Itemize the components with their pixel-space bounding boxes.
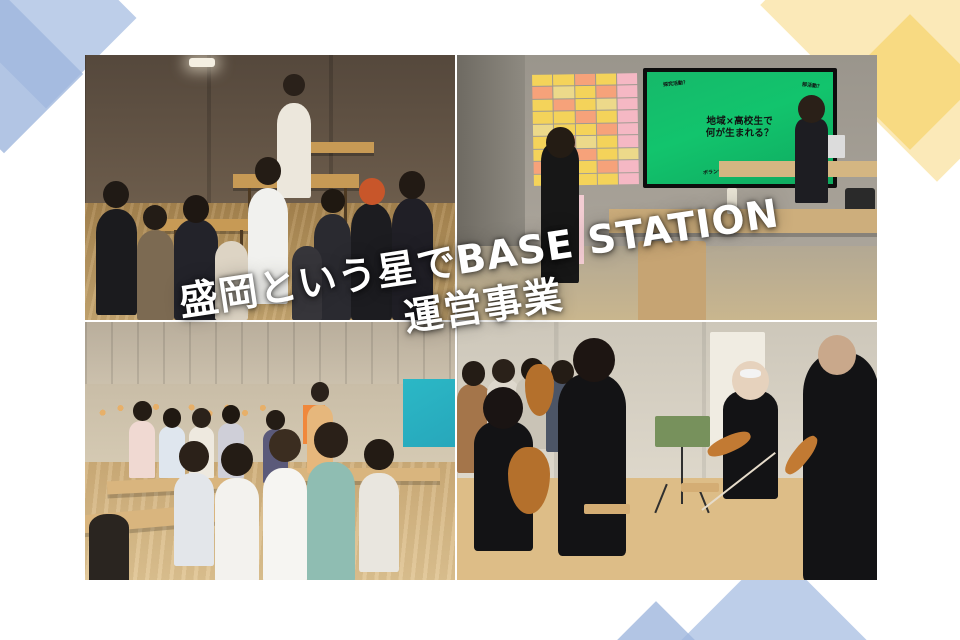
person-musician-right xyxy=(803,353,877,580)
stool xyxy=(584,504,630,514)
concrete-pillar xyxy=(457,55,525,246)
person-presenter-left xyxy=(541,145,579,283)
chair xyxy=(638,241,706,321)
person xyxy=(174,219,218,320)
diamond-bottom-right-2 xyxy=(571,601,741,640)
photo-chamber-concert xyxy=(457,322,877,580)
screen-tag-1: 探究活動？ xyxy=(663,79,689,89)
music-stand xyxy=(655,416,710,447)
screen-tag-2: 部活動？ xyxy=(801,81,822,90)
photo-seminar-room xyxy=(85,322,455,580)
photo-presentation-green-screen: 探究活動？ 部活動？ 地域×高校生で 何が生まれる？ ボランティア？ xyxy=(457,55,877,320)
person-presenter-right xyxy=(795,119,829,204)
ceiling-light xyxy=(189,58,215,67)
person-musician-center xyxy=(558,374,626,556)
wall-garland xyxy=(92,400,270,423)
person xyxy=(129,421,155,478)
stool xyxy=(681,483,719,492)
person xyxy=(277,103,310,198)
screen-headline-line2: 何が生まれる？ xyxy=(706,128,774,139)
slide-canvas: 探究活動？ 部活動？ 地域×高校生で 何が生まれる？ ボランティア？ xyxy=(0,0,960,640)
person xyxy=(351,203,392,320)
long-table xyxy=(609,209,877,233)
person xyxy=(263,468,307,580)
projection-screen xyxy=(403,379,455,447)
bottle xyxy=(727,188,737,215)
diamond-top-left-2 xyxy=(0,0,83,153)
person xyxy=(248,188,289,305)
person xyxy=(359,473,400,572)
person xyxy=(137,230,174,320)
person xyxy=(392,198,433,320)
photo-workshop-concrete-room xyxy=(85,55,455,320)
person xyxy=(215,478,259,580)
photo-collage: 探究活動？ 部活動？ 地域×高校生で 何が生まれる？ ボランティア？ xyxy=(85,55,877,580)
ceiling xyxy=(85,322,455,390)
screen-headline-line1: 地域×高校生で xyxy=(707,116,773,127)
person xyxy=(292,246,322,320)
person xyxy=(89,514,130,580)
person xyxy=(96,209,137,315)
face-mask xyxy=(740,369,761,378)
person xyxy=(174,473,215,567)
person xyxy=(307,462,355,580)
person xyxy=(215,241,248,321)
